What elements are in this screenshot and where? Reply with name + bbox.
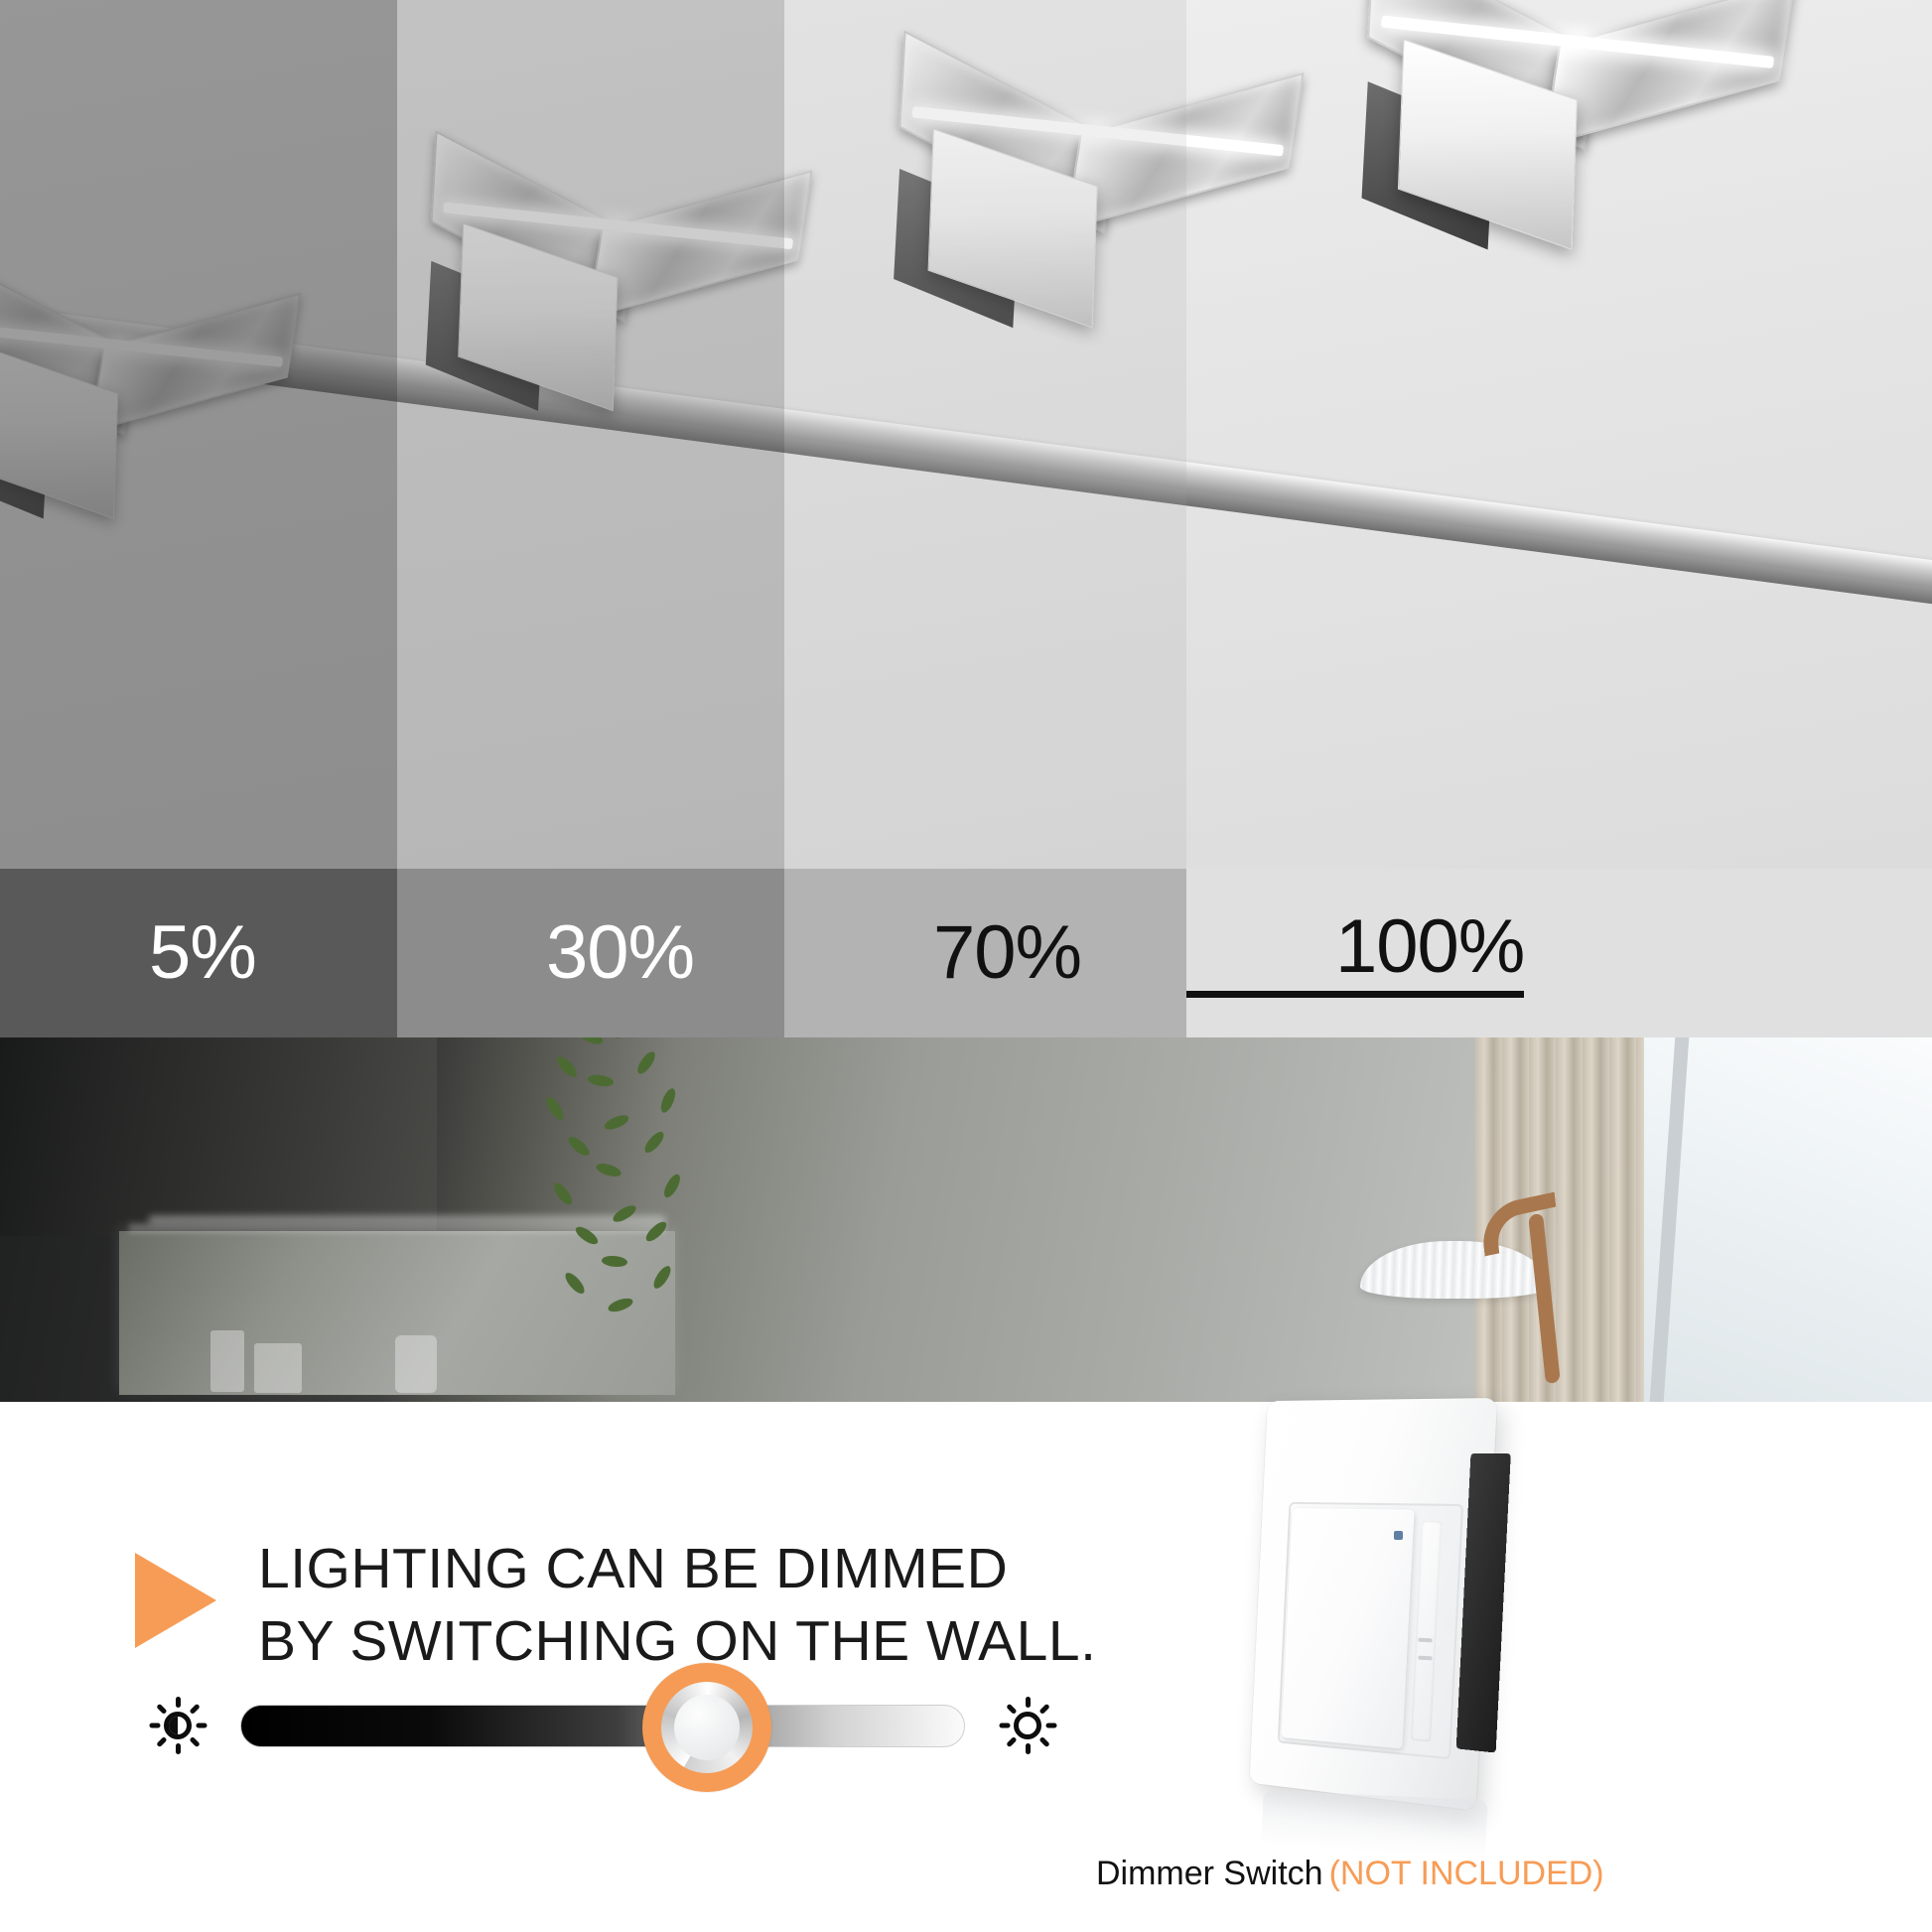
- dimming-level-cell-70[interactable]: 70%: [784, 869, 1186, 1037]
- room-photo-section: [0, 1037, 1932, 1402]
- counter-item: [210, 1330, 244, 1392]
- switch-rocker-paddle[interactable]: [1281, 1508, 1414, 1748]
- headline-line-1: LIGHTING CAN BE DIMMED: [258, 1533, 1096, 1605]
- headline-text: LIGHTING CAN BE DIMMED BY SWITCHING ON T…: [258, 1533, 1096, 1678]
- dim-overlay-70: [784, 0, 1186, 869]
- slider-knob-core: [674, 1695, 740, 1760]
- triangle-right-icon: [135, 1553, 216, 1648]
- dimming-level-cell-30[interactable]: 30%: [397, 869, 784, 1037]
- product-infographic: 5% 30% 70% 100%: [0, 0, 1932, 1932]
- counter-item: [395, 1335, 437, 1393]
- headline-line-2: BY SWITCHING ON THE WALL.: [258, 1605, 1096, 1678]
- dimming-level-cell-100[interactable]: 100%: [1186, 869, 1932, 1037]
- room-plant: [516, 1037, 725, 1345]
- dim-overlay-30: [397, 0, 784, 869]
- brightness-high-icon: [999, 1697, 1056, 1754]
- fixture-photo-section: [0, 0, 1932, 869]
- dimmer-switch-caption-accent: (NOT INCLUDED): [1329, 1855, 1604, 1892]
- dimming-level-label: 30%: [397, 915, 694, 991]
- dimmer-switch-product-image: [1219, 1382, 1577, 1849]
- switch-led-indicator: [1394, 1531, 1403, 1540]
- dim-overlay-100: [1186, 0, 1932, 869]
- dimmer-switch-caption-main: Dimmer Switch: [1096, 1855, 1323, 1892]
- dimmer-switch-caption: Dimmer Switch(NOT INCLUDED): [1096, 1855, 1604, 1893]
- slider-track[interactable]: [240, 1705, 965, 1747]
- counter-item: [254, 1343, 302, 1393]
- dimming-level-label: 5%: [0, 915, 256, 991]
- dimming-level-label-strip: 5% 30% 70% 100%: [0, 869, 1932, 1037]
- switch-reflection: [1261, 1790, 1488, 1860]
- switch-strip-tick: [1418, 1638, 1433, 1643]
- slider-knob[interactable]: [642, 1663, 771, 1792]
- brightness-slider[interactable]: [149, 1695, 1056, 1756]
- brightness-low-icon: [149, 1697, 207, 1754]
- dim-overlay-5: [0, 0, 397, 869]
- dimming-level-cell-5[interactable]: 5%: [0, 869, 397, 1037]
- switch-strip-tick: [1418, 1656, 1433, 1661]
- slider-knob-ring: [661, 1682, 753, 1773]
- slider-track-wrapper[interactable]: [240, 1695, 965, 1756]
- dimming-level-label: 70%: [784, 915, 1081, 991]
- room-cabinetry: [0, 1037, 437, 1236]
- dimming-level-label: 100%: [1186, 909, 1524, 998]
- headline-block: LIGHTING CAN BE DIMMED BY SWITCHING ON T…: [135, 1533, 1096, 1678]
- bottom-info-section: LIGHTING CAN BE DIMMED BY SWITCHING ON T…: [0, 1402, 1932, 1932]
